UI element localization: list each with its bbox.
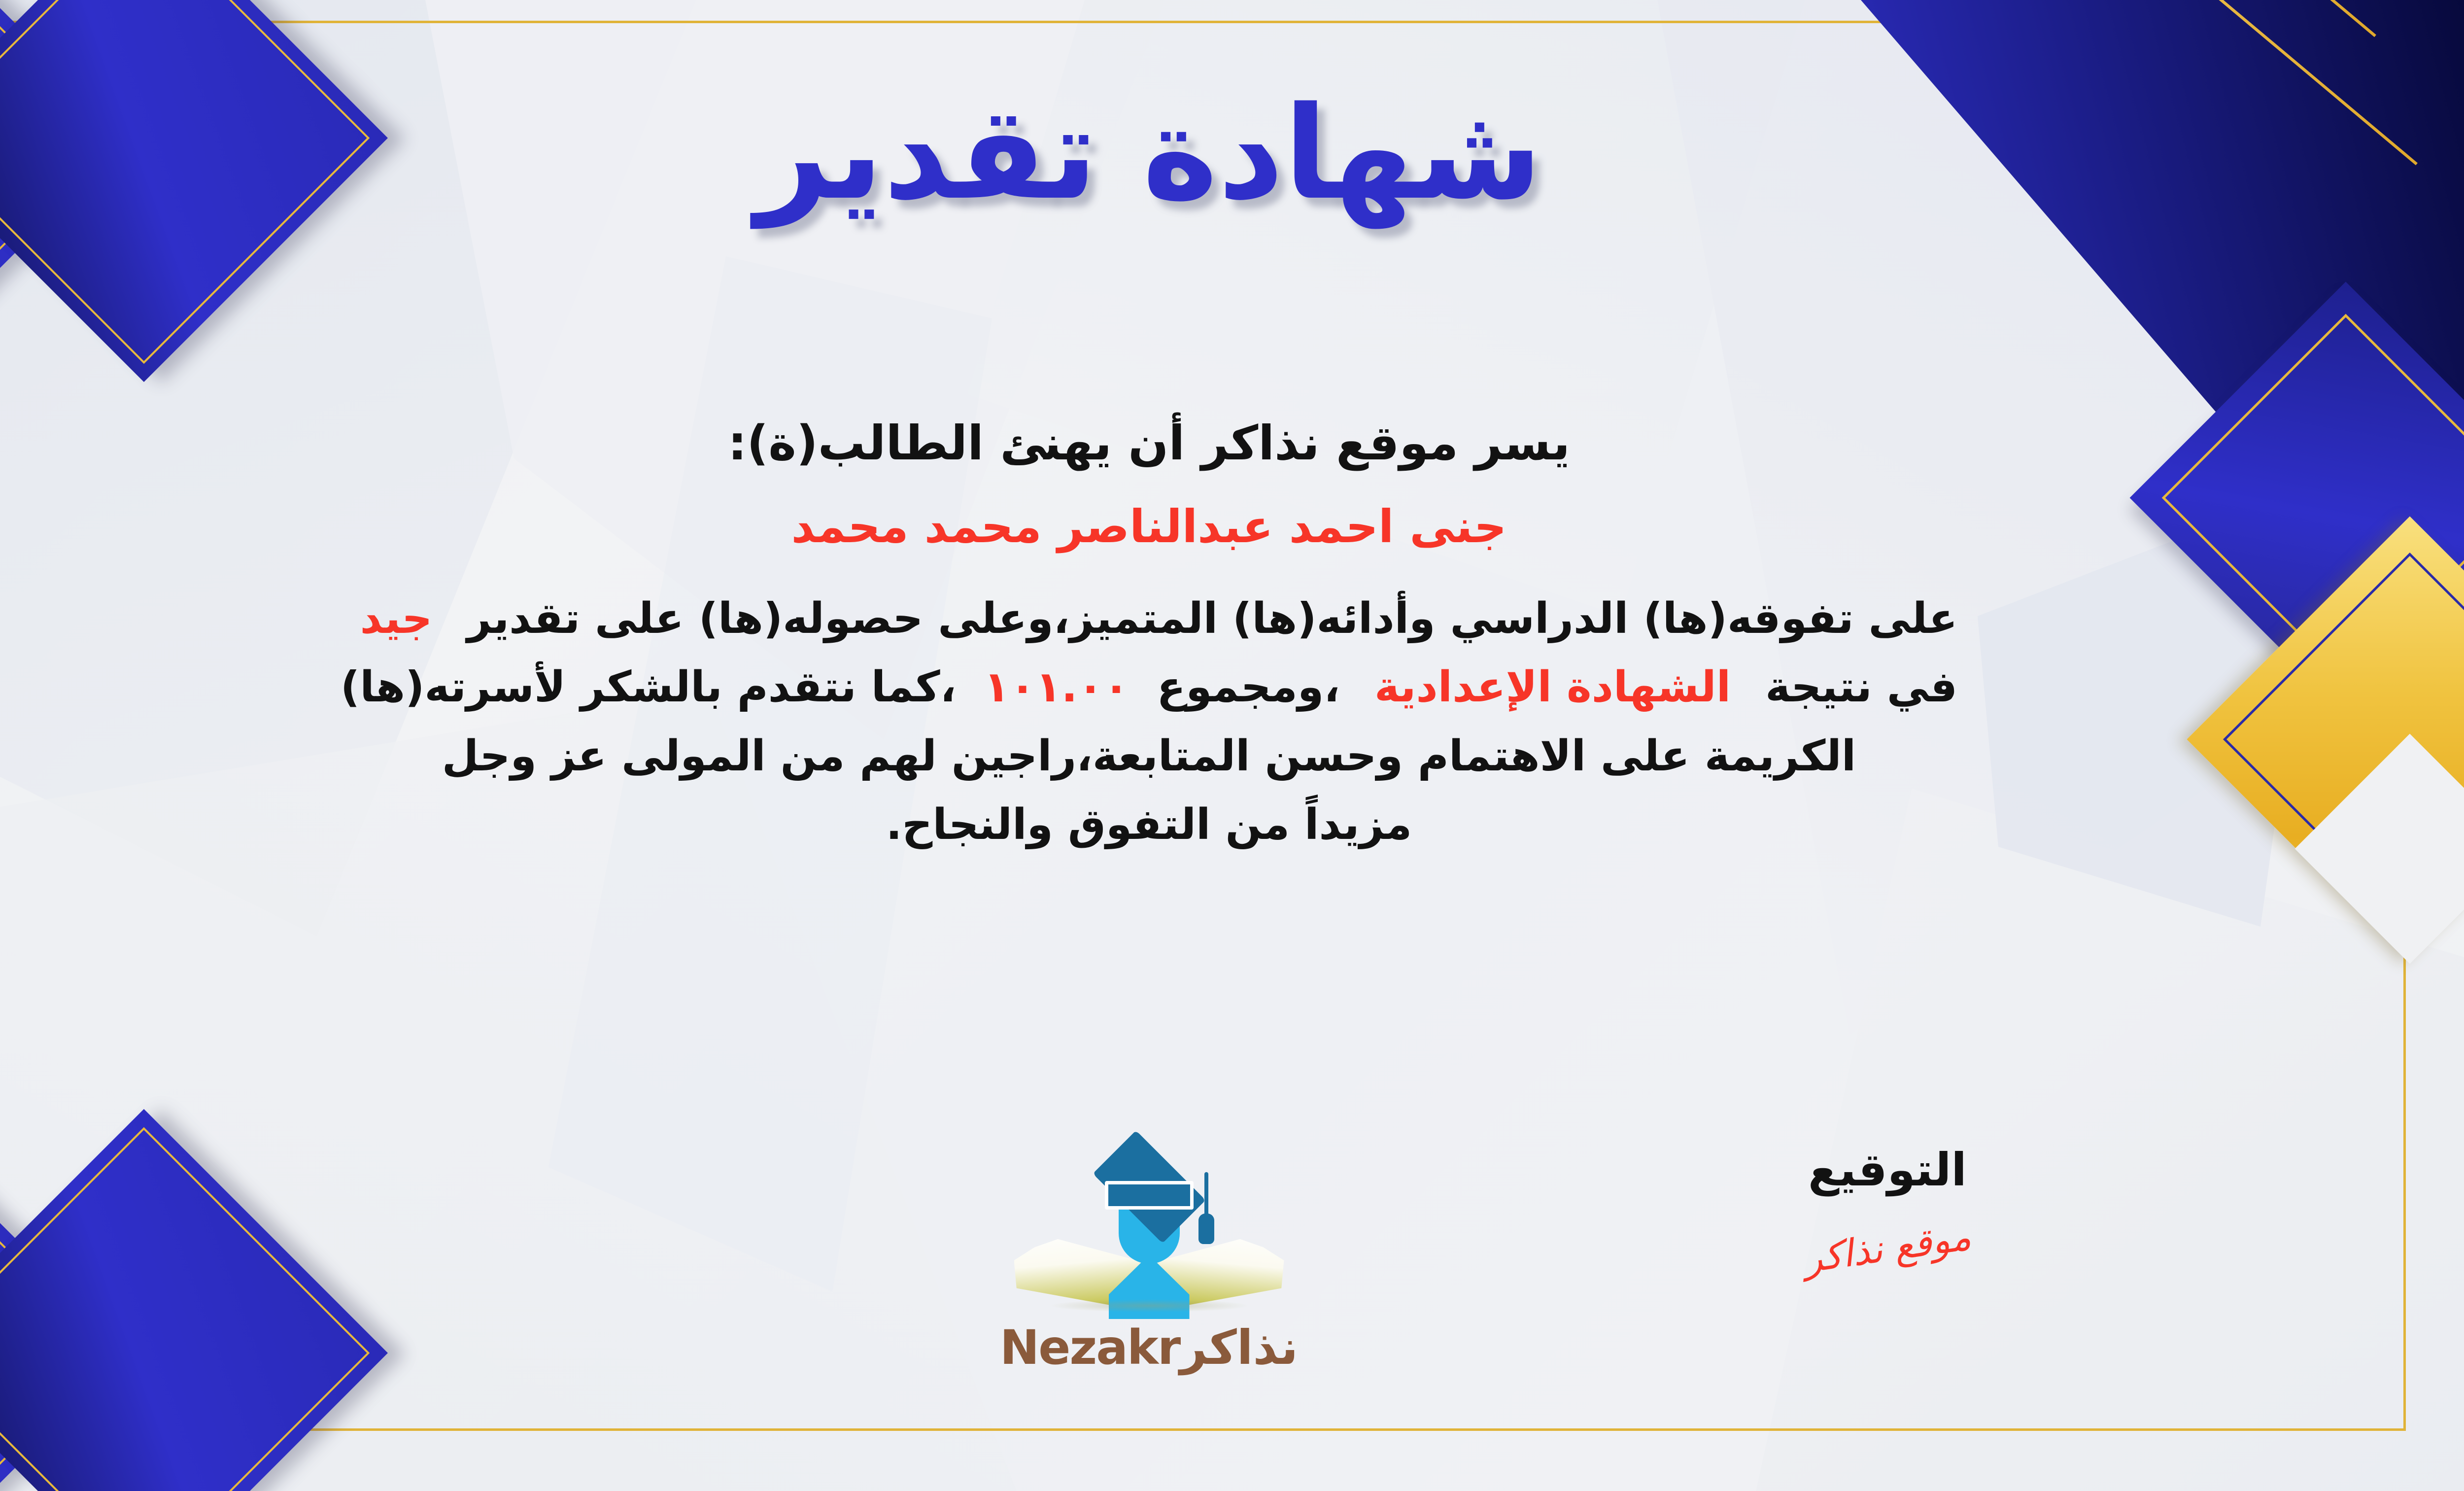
tassel-ball-icon [1198,1214,1214,1244]
body-part-1: على تفوقه(ها) الدراسي وأدائه(ها) المتميز… [467,594,1957,643]
book-shadow [1051,1299,1248,1312]
grade-value: جيد [341,594,452,643]
body-paragraph: على تفوقه(ها) الدراسي وأدائه(ها) المتميز… [0,585,2380,859]
certificate-page: شهادة تقدير يسر موقع نذاكر أن يهنئ الطال… [0,0,2464,1491]
logo-wordmark: نذاكرNezakr [996,1320,1302,1375]
body-part-3: ،ومجموع [1157,662,1340,712]
body-part-2: في نتيجة [1765,662,1957,712]
tassel-line-icon [1204,1172,1208,1217]
body-part-5: الكريمة على الاهتمام وحسن المتابعة،راجين… [442,731,1856,781]
student-name: جنى احمد عبدالناصر محمد محمد [0,495,2380,559]
graduation-cap-band-icon [1105,1181,1194,1210]
signature-label: التوقيع [1715,1144,2060,1196]
greeting-line: يسر موقع نذاكر أن يهنئ الطالب(ة): [0,409,2380,478]
exam-name: الشهادة الإعدادية [1355,662,1750,712]
total-score: ١٠١.٠٠ [971,662,1142,712]
certificate-body: يسر موقع نذاكر أن يهنئ الطالب(ة): جنى اح… [0,409,2380,859]
graduate-book-icon [1011,1134,1287,1311]
certificate-content: شهادة تقدير يسر موقع نذاكر أن يهنئ الطال… [0,0,2464,1491]
body-part-6: مزيداً من التفوق والنجاح. [886,800,1412,849]
signature-script: موقع نذاكر [1801,1214,1974,1282]
certificate-title: شهادة تقدير [0,74,2464,234]
signature-area: التوقيع موقع نذاكر [1715,1144,2060,1270]
site-logo: نذاكرNezakr [996,1134,1302,1375]
body-part-4: ،كما نتقدم بالشكر لأسرته(ها) [341,662,956,712]
